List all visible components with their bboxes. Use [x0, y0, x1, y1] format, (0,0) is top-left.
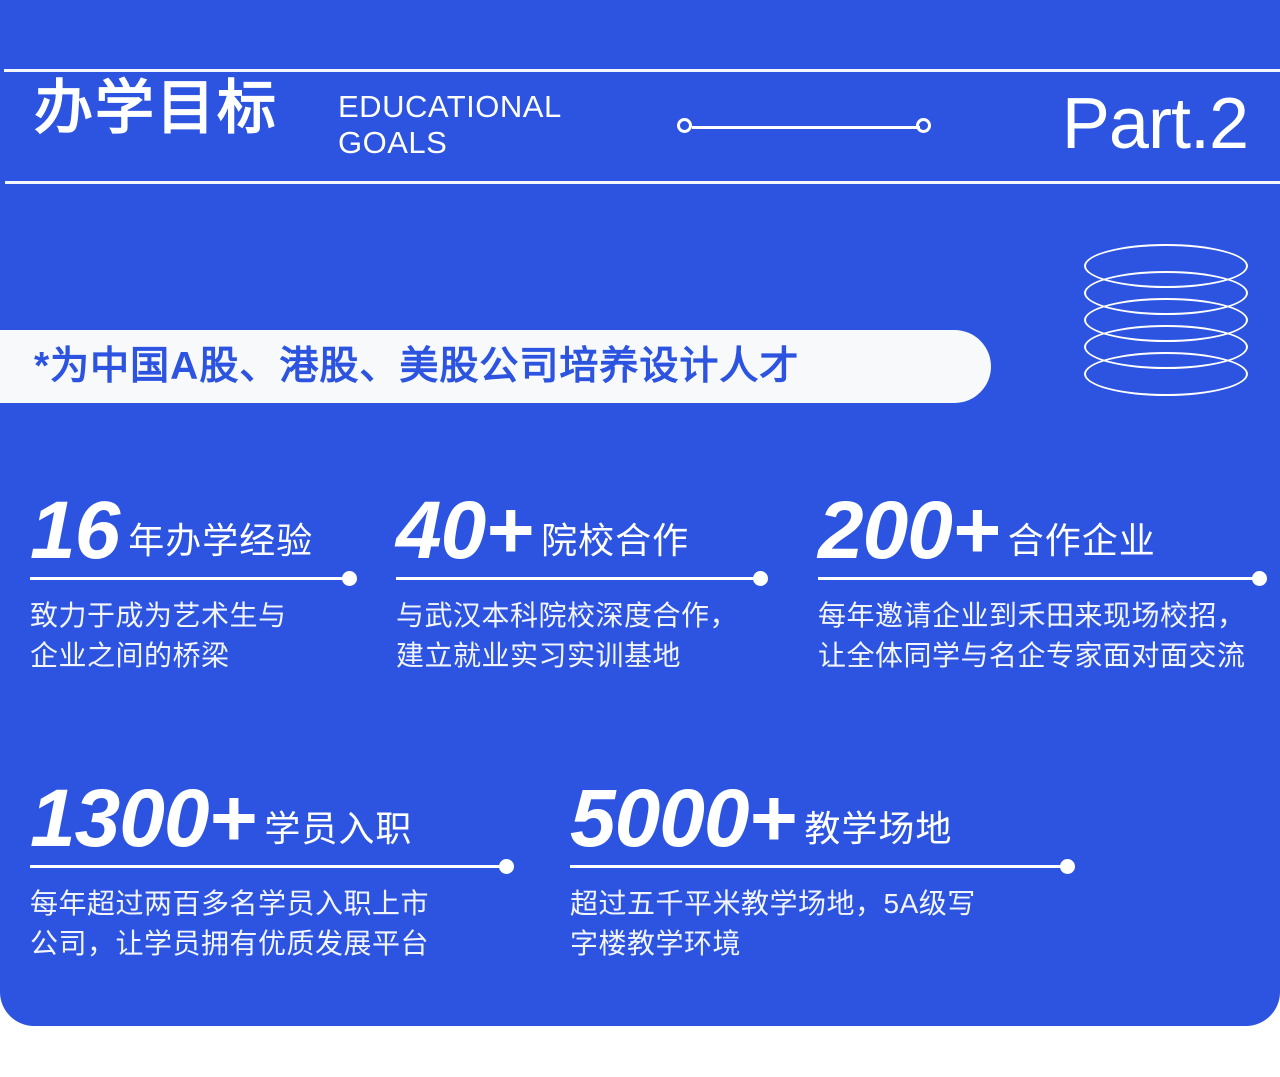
- stat-headline: 5000+ 教学场地: [570, 764, 1070, 856]
- connector-circle-left-icon: [677, 118, 692, 133]
- stats-section: 16 年办学经验 致力于成为艺术生与 企业之间的桥梁 40+ 院校合作: [0, 476, 1280, 976]
- stat-unit: 学员入职: [264, 811, 412, 856]
- stat-divider-line: [30, 865, 505, 868]
- stat-unit: 教学场地: [804, 811, 952, 856]
- stat-unit: 年办学经验: [128, 523, 313, 568]
- stat-card-5000: 5000+ 教学场地 超过五千平米教学场地，5A级写 字楼教学环境: [570, 764, 1070, 964]
- poster-root: 办学目标 EDUCATIONAL GOALS Part.2 *为中国A股、港股、…: [0, 0, 1280, 1077]
- stat-description: 每年邀请企业到禾田来现场校招， 让全体同学与名企专家面对面交流: [818, 596, 1258, 676]
- page-title-cn: 办学目标: [34, 79, 278, 138]
- header-rule-bottom: [5, 181, 1280, 184]
- coil-spring-icon: [1084, 244, 1248, 396]
- stat-card-200: 200+ 合作企业 每年邀请企业到禾田来现场校招， 让全体同学与名企专家面对面交…: [818, 476, 1258, 676]
- stat-divider-dot-icon: [499, 859, 514, 874]
- stats-row-top: 16 年办学经验 致力于成为艺术生与 企业之间的桥梁 40+ 院校合作: [0, 476, 1280, 688]
- page-title-en-line2: GOALS: [338, 125, 608, 161]
- stat-divider: [818, 571, 1258, 587]
- stats-row-bottom: 1300+ 学员入职 每年超过两百多名学员入职上市 公司，让学员拥有优质发展平台…: [0, 764, 1280, 976]
- highlight-banner-text: *为中国A股、港股、美股公司培养设计人才: [34, 347, 799, 386]
- page-title-en: EDUCATIONAL GOALS: [338, 89, 608, 160]
- stat-divider: [30, 859, 510, 875]
- stat-divider-dot-icon: [342, 571, 357, 586]
- stat-number: 16: [30, 493, 119, 568]
- stat-headline: 40+ 院校合作: [396, 476, 756, 568]
- stat-description: 致力于成为艺术生与 企业之间的桥梁: [30, 596, 360, 676]
- connector-circle-right-icon: [916, 118, 931, 133]
- stat-number: 200+: [818, 493, 999, 568]
- stat-unit: 合作企业: [1008, 523, 1156, 568]
- stat-card-1300: 1300+ 学员入职 每年超过两百多名学员入职上市 公司，让学员拥有优质发展平台: [30, 764, 510, 964]
- blue-card: 办学目标 EDUCATIONAL GOALS Part.2 *为中国A股、港股、…: [0, 0, 1280, 1026]
- stat-description: 每年超过两百多名学员入职上市 公司，让学员拥有优质发展平台: [30, 884, 510, 964]
- header: 办学目标 EDUCATIONAL GOALS Part.2: [0, 72, 1280, 181]
- stat-divider-dot-icon: [1252, 571, 1267, 586]
- stat-divider: [30, 571, 360, 587]
- stat-divider-line: [30, 577, 348, 580]
- connector-line-icon: [676, 116, 938, 140]
- stat-divider-dot-icon: [753, 571, 768, 586]
- stat-headline: 1300+ 学员入职: [30, 764, 510, 856]
- stat-headline: 200+ 合作企业: [818, 476, 1258, 568]
- connector-bar: [692, 126, 920, 129]
- part-label: Part.2: [1062, 88, 1248, 160]
- stat-unit: 院校合作: [541, 523, 689, 568]
- stat-headline: 16 年办学经验: [30, 476, 360, 568]
- page-title-en-line1: EDUCATIONAL: [338, 89, 608, 125]
- stat-number: 40+: [396, 493, 532, 568]
- stat-divider-line: [818, 577, 1258, 580]
- stat-description: 与武汉本科院校深度合作， 建立就业实习实训基地: [396, 596, 756, 676]
- stat-divider-dot-icon: [1060, 859, 1075, 874]
- stat-divider: [396, 571, 756, 587]
- stat-card-40: 40+ 院校合作 与武汉本科院校深度合作， 建立就业实习实训基地: [396, 476, 756, 676]
- coil-ring: [1084, 352, 1248, 396]
- stat-divider: [570, 859, 1070, 875]
- stat-description: 超过五千平米教学场地，5A级写 字楼教学环境: [570, 884, 1070, 964]
- stat-divider-line: [396, 577, 759, 580]
- stat-divider-line: [570, 865, 1066, 868]
- stat-card-16: 16 年办学经验 致力于成为艺术生与 企业之间的桥梁: [30, 476, 360, 676]
- stat-number: 1300+: [30, 781, 255, 856]
- highlight-banner: *为中国A股、港股、美股公司培养设计人才: [0, 330, 991, 403]
- stat-number: 5000+: [570, 781, 795, 856]
